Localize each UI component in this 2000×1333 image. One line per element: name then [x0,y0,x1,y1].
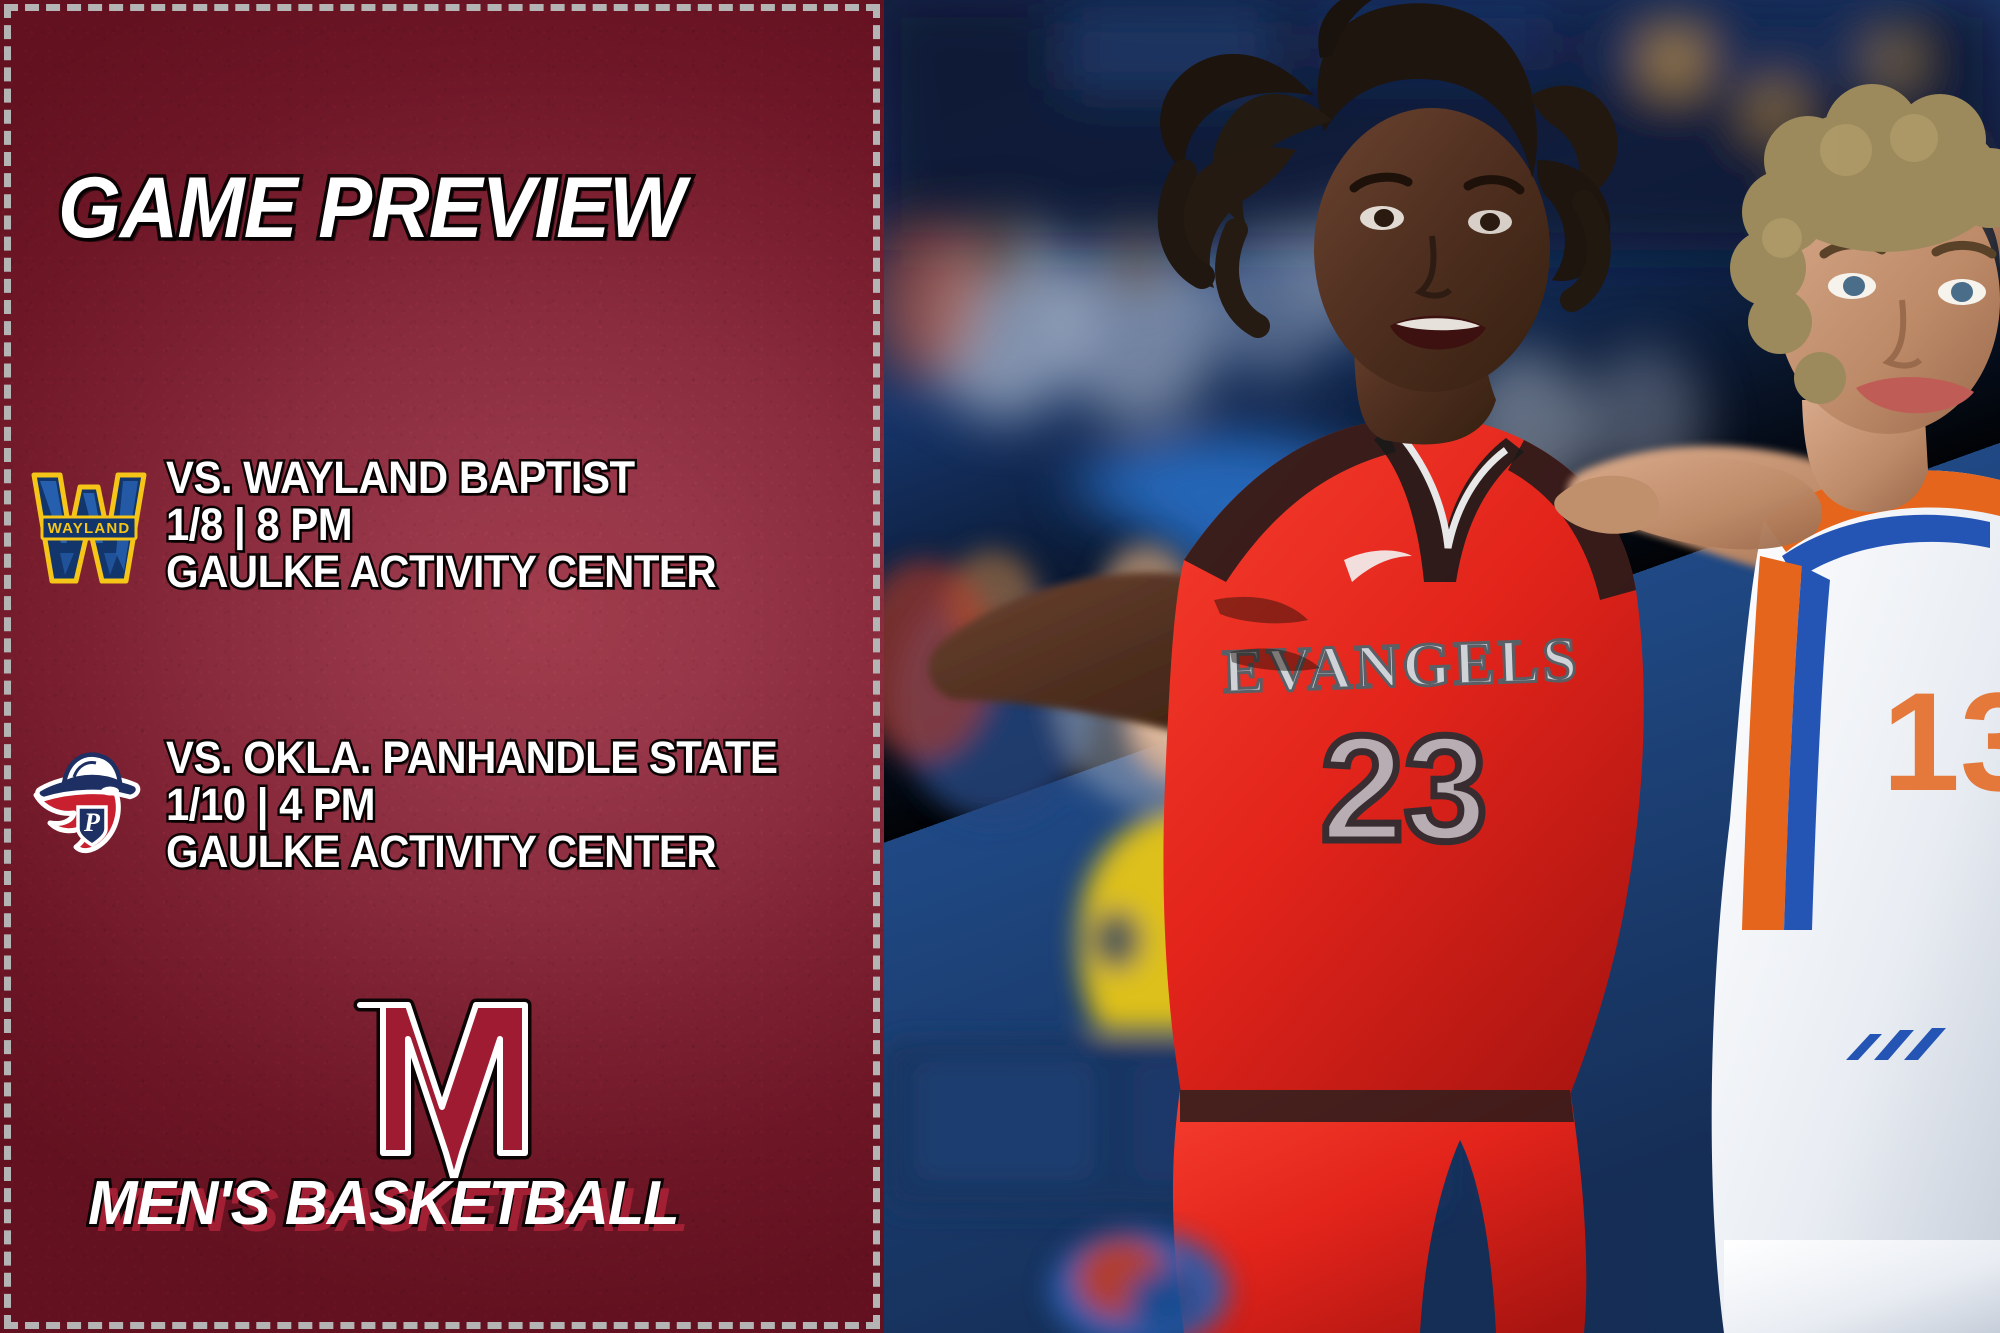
wayland-baptist-logo: WAYLAND [30,461,148,589]
game-datetime: 1/8 | 8 PM [166,502,716,549]
panhandle-p-letter: P [83,808,101,837]
info-panel: GAME PREVIEW WAYLAND [0,0,884,1333]
game-details: VS. OKLA. PANHANDLE STATE 1/10 | 4 PM GA… [166,735,824,875]
opponent-jersey-number: 13 [1882,663,2000,820]
game-venue: GAULKE ACTIVITY CENTER [166,829,777,876]
page-title: GAME PREVIEW [58,165,685,251]
game-datetime: 1/10 | 4 PM [166,782,777,829]
wayland-wordmark: WAYLAND [48,520,131,537]
game-opponent: VS. WAYLAND BAPTIST [166,455,716,502]
oklahoma-panhandle-state-logo: P [30,741,148,869]
game-details: VS. WAYLAND BAPTIST 1/8 | 8 PM GAULKE AC… [166,455,758,595]
game-entry: WAYLAND VS. WAYLAND BAPTIST 1/8 | 8 PM G… [30,455,758,595]
team-logo-m [350,995,535,1190]
sport-label: MEN'S BASKETBALL [88,1168,679,1239]
game-venue: GAULKE ACTIVITY CENTER [166,549,716,596]
game-opponent: VS. OKLA. PANHANDLE STATE [166,735,777,782]
jersey-number: 23 [1321,704,1488,872]
graphic-canvas: GAME PREVIEW WAYLAND [0,0,2000,1333]
action-photo: EVANGELS 23 [884,0,2000,1333]
game-entry: P VS. OKLA. PANHANDLE STATE 1/10 | 4 PM … [30,735,824,875]
